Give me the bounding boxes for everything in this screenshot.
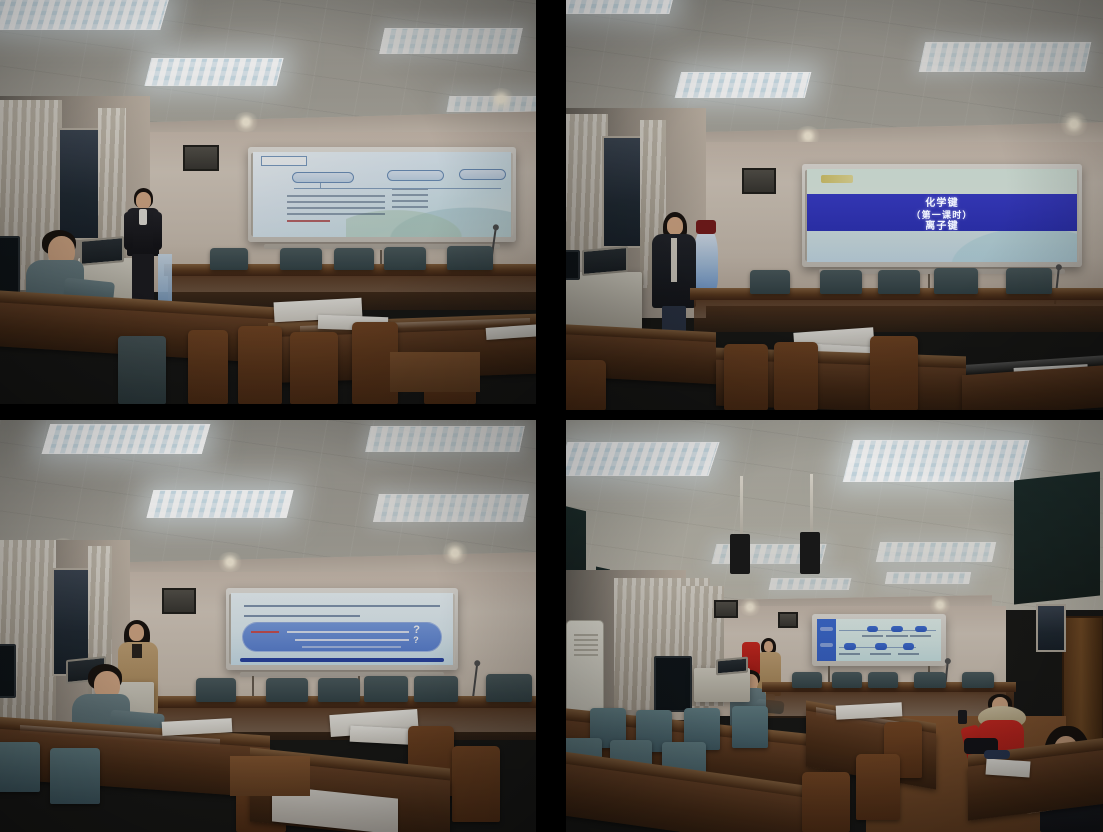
ceiling-light-panel	[365, 426, 525, 452]
slide-node	[844, 643, 856, 649]
chair	[364, 676, 408, 702]
chair	[732, 706, 768, 748]
chair	[802, 772, 850, 832]
head	[136, 192, 151, 209]
slide-title-line-1: 化学键	[911, 198, 972, 210]
photo-bottom-left[interactable]: ? ?	[0, 420, 536, 832]
downlight-glow	[216, 552, 244, 572]
downlight-glow	[738, 598, 762, 616]
chair	[774, 342, 818, 410]
photo-top-left[interactable]: Teacher in black suit presenting beside …	[0, 0, 536, 404]
chair	[724, 344, 768, 410]
whiteboard[interactable]: ? ?	[226, 588, 458, 670]
slide-text-block	[287, 193, 385, 215]
ceiling-light-panel	[147, 490, 294, 518]
window	[1036, 604, 1066, 652]
slide-title-line-2: （第一课时）	[911, 210, 972, 221]
slide-flowchart	[253, 152, 511, 237]
head	[667, 217, 683, 235]
chair	[196, 678, 236, 702]
window-curtain	[0, 540, 56, 730]
wall-speaker	[714, 600, 738, 618]
wall-speaker	[183, 145, 219, 171]
slide-title-line-3: 离子键	[911, 221, 972, 233]
slide-question-line	[295, 636, 410, 642]
collar	[132, 644, 142, 658]
ceiling-camera	[730, 534, 750, 574]
slide-node	[891, 626, 903, 632]
slide-sidebar-label	[820, 643, 833, 648]
slide-footer-bar	[240, 658, 444, 662]
chair	[452, 746, 500, 822]
floor	[390, 352, 480, 392]
slide-sidebar	[817, 619, 836, 661]
slide-node-label	[886, 634, 907, 637]
chair	[832, 672, 862, 688]
chair	[290, 332, 338, 404]
chair	[486, 674, 532, 702]
whiteboard[interactable]: 化学键 （第一课时） 离子键	[802, 164, 1082, 267]
slide-node	[459, 169, 505, 180]
chair	[868, 672, 898, 688]
slide-question: ? ?	[231, 593, 453, 665]
arm	[124, 212, 133, 250]
slide-sidebar-label	[820, 627, 833, 632]
chair	[50, 748, 100, 804]
slide-corner-mark	[821, 175, 853, 183]
chair	[792, 672, 822, 688]
chair	[1006, 268, 1052, 294]
chair	[447, 246, 493, 270]
chair	[870, 336, 918, 410]
slide-node-label	[839, 652, 860, 655]
downlight-glow	[440, 542, 470, 564]
slide-node	[292, 172, 354, 183]
chair	[566, 360, 606, 410]
slide-answer-line	[302, 643, 401, 648]
wall-tv-panel	[1014, 471, 1100, 604]
chair	[856, 754, 900, 820]
photo-collage: Teacher in black suit presenting beside …	[0, 0, 1103, 832]
chair	[384, 247, 426, 270]
chair	[0, 742, 40, 792]
slide-heading-line	[244, 600, 439, 606]
slide-node-label	[870, 652, 891, 655]
slide-question-label	[251, 627, 279, 633]
slide-question-box: ? ?	[242, 622, 442, 652]
chair	[414, 676, 458, 702]
slide-title: 化学键 （第一课时） 离子键	[807, 169, 1077, 262]
slide-text-block	[392, 189, 428, 208]
scarf	[671, 238, 677, 282]
downlight-glow	[486, 88, 516, 110]
chair	[280, 248, 322, 270]
podium	[566, 272, 642, 330]
slide-section-tag	[261, 156, 307, 166]
chair	[266, 678, 308, 702]
ceiling-light-panel	[885, 572, 971, 584]
ceiling-light-panel	[379, 28, 523, 54]
slide-diagram	[817, 619, 941, 661]
slide-node-label	[910, 634, 931, 637]
whiteboard[interactable]	[812, 614, 946, 666]
slide-node-label	[898, 652, 919, 655]
photo-top-right[interactable]: 化学键 （第一课时） 离子键	[566, 0, 1103, 410]
whiteboard[interactable]	[248, 147, 516, 242]
projection-surface	[253, 152, 511, 237]
chair	[914, 672, 946, 688]
mobile-phone	[958, 710, 967, 724]
slide-connector	[320, 183, 321, 189]
chair	[334, 248, 374, 270]
slide-node	[903, 643, 915, 649]
ceiling-light-panel	[876, 542, 996, 562]
ceiling-light-panel	[566, 442, 720, 476]
slide-node-label	[862, 634, 883, 637]
photo-bottom-right[interactable]: Wide view of the full lecture hall with …	[566, 420, 1103, 832]
chair	[238, 326, 282, 404]
wall-speaker	[778, 612, 798, 628]
wall-monitor	[566, 250, 580, 280]
wall-speaker	[162, 588, 196, 614]
chair	[750, 270, 790, 294]
downlight-glow	[928, 596, 952, 614]
camera-pole	[740, 476, 743, 542]
ceiling-camera	[800, 532, 820, 574]
wall-monitor	[0, 644, 16, 698]
slide-question-line	[287, 627, 410, 633]
projection-surface: 化学键 （第一课时） 离子键	[807, 169, 1077, 262]
chair	[962, 672, 994, 688]
ceiling-light-panel	[919, 42, 1091, 72]
chair	[934, 268, 978, 294]
slide-node	[867, 626, 879, 632]
downlight-glow	[232, 112, 260, 132]
projection-surface	[817, 619, 941, 661]
whiteboard-support	[252, 676, 254, 698]
chair	[210, 248, 248, 270]
ceiling-light-panel	[145, 58, 284, 86]
slide-heading-line	[244, 610, 359, 616]
podium-monitor[interactable]	[582, 246, 628, 276]
slide-highlight	[287, 220, 331, 222]
head	[764, 641, 773, 652]
head	[129, 624, 144, 641]
legs	[132, 254, 154, 304]
floor	[230, 756, 310, 796]
slide-title-text: 化学键 （第一课时） 离子键	[911, 198, 972, 232]
ceiling-light-panel	[0, 0, 170, 30]
arm	[153, 212, 162, 250]
ceiling-light-panel	[373, 494, 529, 522]
front-desk-panel	[694, 296, 1103, 332]
downlight-glow	[1058, 112, 1090, 136]
wall-speaker	[742, 168, 776, 194]
slide-node	[875, 643, 887, 649]
chair	[820, 270, 862, 294]
ceiling-light-panel	[42, 424, 211, 454]
pencil-case	[984, 750, 1010, 759]
chair	[878, 270, 920, 294]
slide-node	[915, 626, 927, 632]
air-conditioner-vent	[574, 634, 598, 656]
camera-pole	[810, 474, 813, 540]
papers-on-desk	[985, 758, 1030, 777]
ceiling-light-panel	[675, 72, 811, 98]
chair	[188, 330, 228, 404]
podium-monitor[interactable]	[716, 657, 748, 676]
projection-surface: ? ?	[231, 593, 453, 665]
ceiling-light-panel	[566, 0, 675, 14]
ceiling-light-panel	[769, 578, 852, 590]
display-monitor	[654, 656, 692, 712]
whiteboard-rail	[240, 672, 444, 677]
shirt	[139, 209, 147, 225]
slide-node	[387, 170, 444, 181]
slide-question-mark: ?	[413, 635, 419, 645]
chair	[318, 678, 360, 702]
chair	[118, 336, 166, 404]
ceiling-light-panel	[843, 440, 1029, 482]
